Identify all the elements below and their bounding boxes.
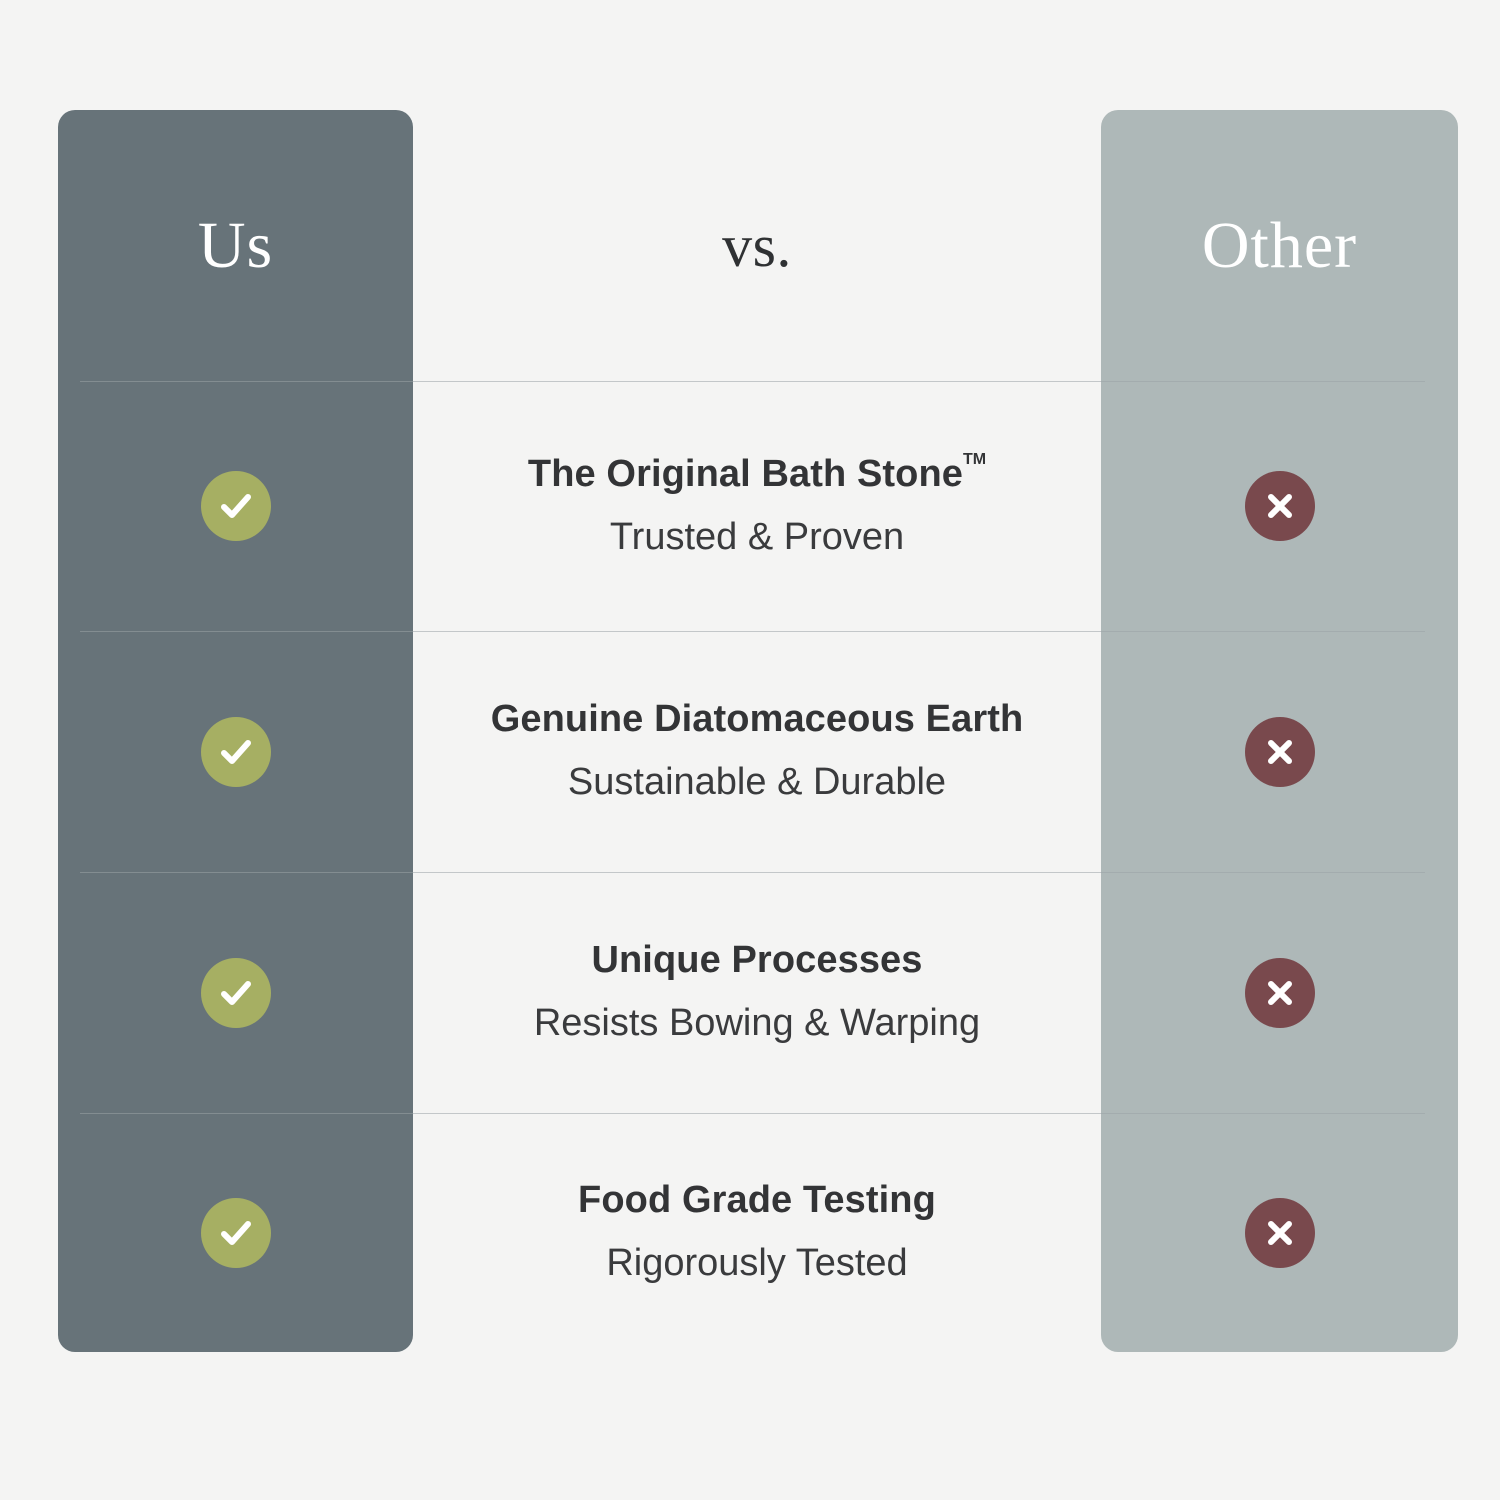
row-divider xyxy=(80,631,1425,632)
feature-title: Genuine Diatomaceous Earth xyxy=(491,697,1024,743)
table-row: Genuine Diatomaceous Earth Sustainable &… xyxy=(58,631,1458,872)
check-icon xyxy=(201,717,271,787)
check-icon xyxy=(201,958,271,1028)
header-cell-us: Us xyxy=(58,213,413,279)
feature-text-cell: Genuine Diatomaceous Earth Sustainable &… xyxy=(413,697,1101,805)
table-row: Unique Processes Resists Bowing & Warpin… xyxy=(58,872,1458,1113)
cross-icon xyxy=(1245,1198,1315,1268)
feature-text-cell: Food Grade Testing Rigorously Tested xyxy=(413,1178,1101,1286)
table-row: Food Grade Testing Rigorously Tested xyxy=(58,1113,1458,1352)
check-icon xyxy=(201,471,271,541)
us-status-cell xyxy=(58,717,413,787)
table-row: The Original Bath StoneTM Trusted & Prov… xyxy=(58,381,1458,631)
trademark-symbol: TM xyxy=(963,451,986,468)
us-column-title: Us xyxy=(198,213,273,279)
feature-title: Unique Processes xyxy=(591,938,922,984)
us-status-cell xyxy=(58,471,413,541)
row-divider xyxy=(80,1113,1425,1114)
cross-icon xyxy=(1245,471,1315,541)
other-status-cell xyxy=(1101,1198,1458,1268)
feature-subtitle: Rigorously Tested xyxy=(606,1241,907,1287)
header-cell-other: Other xyxy=(1101,213,1458,279)
feature-text-cell: The Original Bath StoneTM Trusted & Prov… xyxy=(413,452,1101,560)
other-status-cell xyxy=(1101,471,1458,541)
check-icon xyxy=(201,1198,271,1268)
feature-text-cell: Unique Processes Resists Bowing & Warpin… xyxy=(413,938,1101,1046)
vs-label: vs. xyxy=(722,216,792,276)
feature-subtitle: Resists Bowing & Warping xyxy=(534,1001,980,1047)
row-divider xyxy=(80,381,1425,382)
table-header-row: Us vs. Other xyxy=(58,110,1458,381)
cross-icon xyxy=(1245,958,1315,1028)
other-column-title: Other xyxy=(1202,213,1357,279)
header-cell-vs: vs. xyxy=(413,216,1101,276)
row-divider xyxy=(80,872,1425,873)
feature-title: Food Grade Testing xyxy=(578,1178,936,1224)
cross-icon xyxy=(1245,717,1315,787)
feature-subtitle: Sustainable & Durable xyxy=(568,760,946,806)
comparison-table: Us vs. Other The Original xyxy=(58,110,1458,1352)
feature-title: The Original Bath StoneTM xyxy=(528,452,986,498)
other-status-cell xyxy=(1101,717,1458,787)
comparison-table-graphic: Us vs. Other The Original xyxy=(0,0,1500,1500)
us-status-cell xyxy=(58,1198,413,1268)
other-status-cell xyxy=(1101,958,1458,1028)
us-status-cell xyxy=(58,958,413,1028)
feature-subtitle: Trusted & Proven xyxy=(610,515,904,561)
